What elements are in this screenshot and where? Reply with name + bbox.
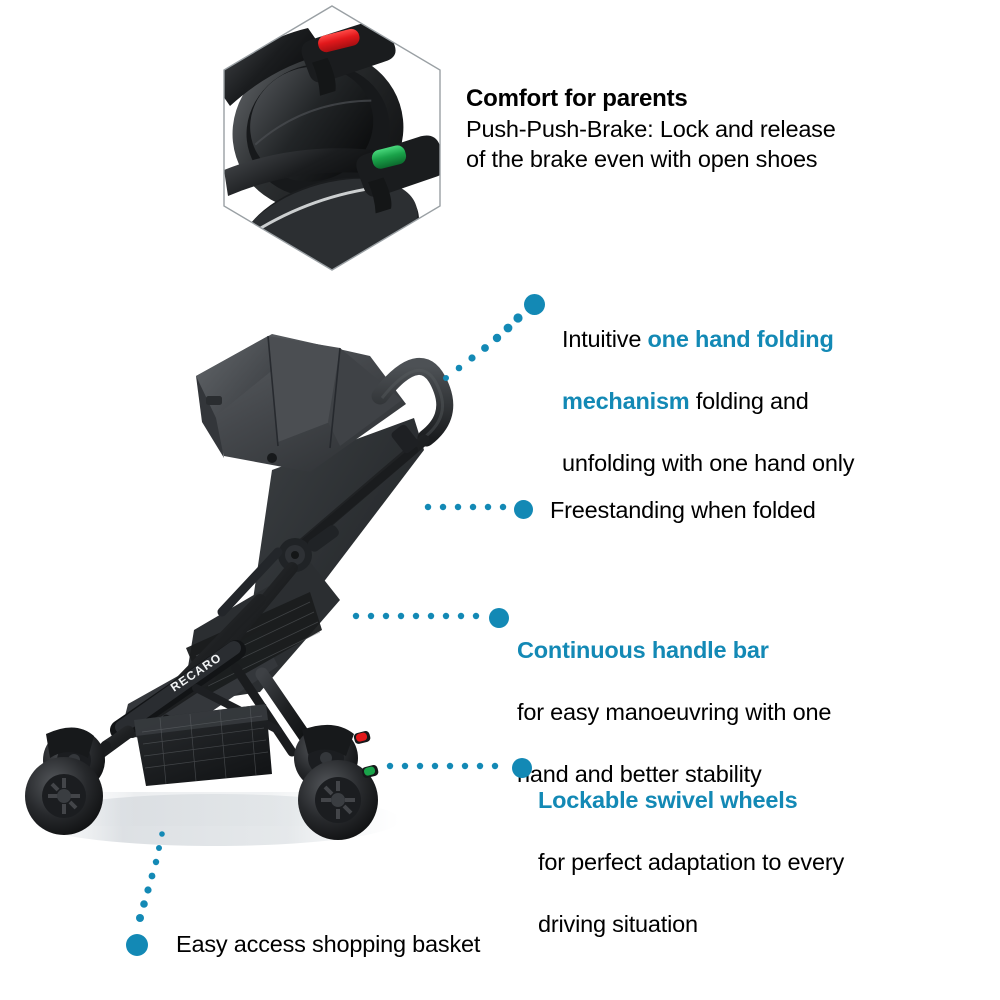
leader-line-handle-bar (352, 607, 488, 625)
brake-release-pedal-small (361, 764, 379, 779)
callout-fold-strong2: mechanism (562, 388, 690, 414)
callout-handle-line2: for easy manoeuvring with one (517, 699, 831, 725)
headline-title: Comfort for parents (466, 84, 966, 114)
callout-freestanding: Freestanding when folded (550, 495, 950, 526)
headline-line-1: Push-Push-Brake: Lock and release (466, 114, 966, 144)
callout-one-hand-folding: Intuitive one hand folding mechanism fol… (562, 293, 962, 479)
headline-line-2: of the brake even with open shoes (466, 144, 966, 174)
leader-line-swivel-wheels (386, 757, 512, 775)
callout-wheels-line2: for perfect adaptation to every (538, 849, 844, 875)
product-feature-infographic: Comfort for parents Push-Push-Brake: Loc… (0, 0, 1000, 1000)
headline-block: Comfort for parents Push-Push-Brake: Loc… (466, 84, 966, 174)
callout-fold-pre: Intuitive (562, 326, 648, 352)
rear-wheel-pair (294, 725, 379, 840)
bullet-handle-bar (489, 608, 509, 628)
brake-lock-pedal-small (353, 730, 371, 745)
callout-swivel-wheels: Lockable swivel wheels for perfect adapt… (538, 754, 958, 940)
canopy-tab (206, 396, 222, 405)
bullet-swivel-wheels (512, 758, 532, 778)
brake-close-up-inset (218, 2, 446, 274)
callout-wheels-strong: Lockable swivel wheels (538, 787, 797, 813)
callout-fold-post: folding and (690, 388, 809, 414)
callout-freestanding-text: Freestanding when folded (550, 495, 950, 526)
inset-photo (218, 2, 446, 274)
callout-swivel-wheels-text: Lockable swivel wheels for perfect adapt… (538, 754, 958, 940)
callout-handle-strong: Continuous handle bar (517, 637, 769, 663)
callout-one-hand-folding-text: Intuitive one hand folding mechanism fol… (562, 293, 962, 479)
callout-shopping-basket-text: Easy access shopping basket (176, 929, 606, 960)
callout-shopping-basket: Easy access shopping basket (176, 929, 606, 960)
leader-line-freestanding (424, 498, 520, 516)
stroller-product-image: RECARO (10, 300, 480, 880)
bullet-shopping-basket (126, 934, 148, 956)
bullet-one-hand-folding (524, 294, 545, 315)
callout-fold-strong: one hand folding (648, 326, 834, 352)
bullet-freestanding (514, 500, 533, 519)
front-wheel-pair (25, 727, 105, 835)
callout-fold-last: unfolding with one hand only (562, 450, 854, 476)
leader-line-shopping-basket (126, 828, 174, 940)
